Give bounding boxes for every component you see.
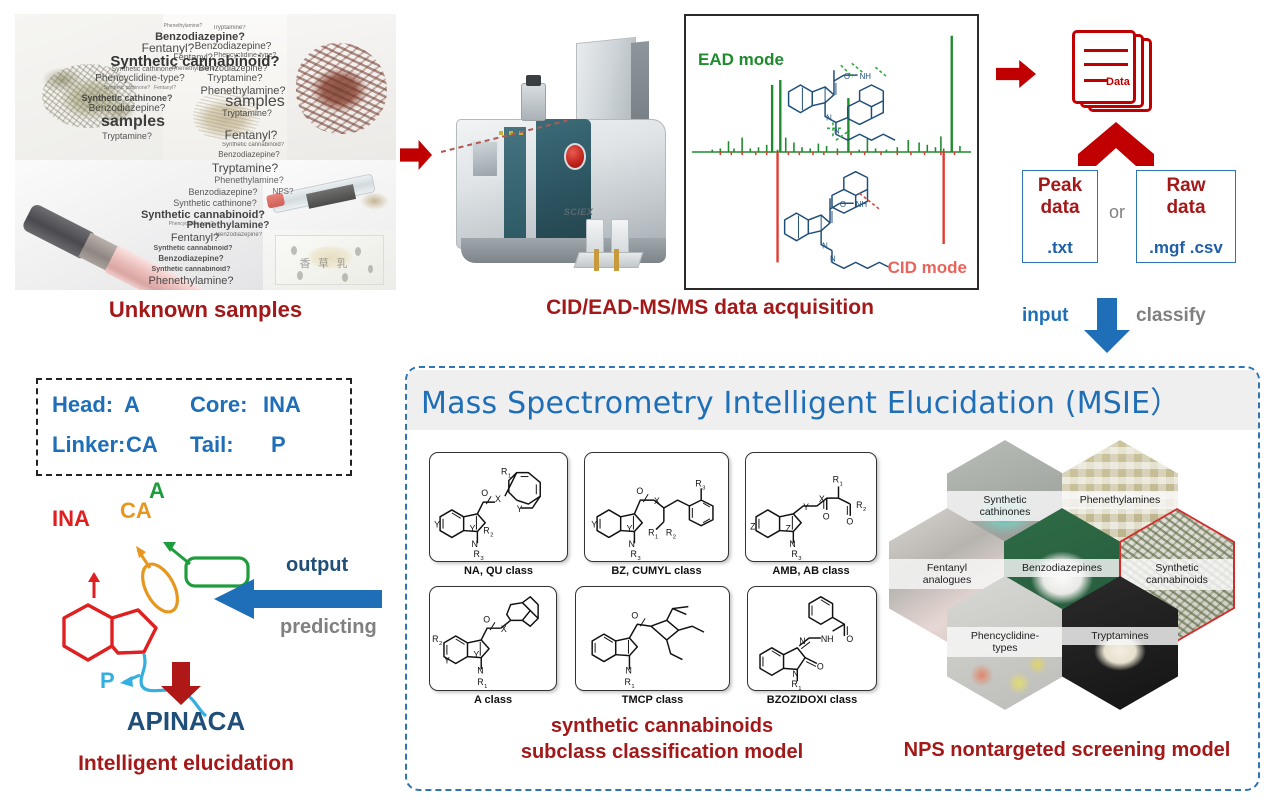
- dried-plant-photo: [287, 14, 396, 160]
- linker-value: CA: [126, 432, 158, 458]
- nps-hexagon-label: Tryptamines: [1062, 627, 1178, 645]
- bottle-tray: [573, 252, 643, 268]
- structure-card-a[interactable]: O X R 2 Y Y N R 1: [429, 586, 557, 691]
- nps-hexagon-label-line1: Phencyclidine-: [948, 630, 1062, 642]
- peak-data-box: Peak data .txt: [1022, 170, 1098, 263]
- structure-card-bzozidoxi[interactable]: O NH N O N R 1: [747, 586, 877, 691]
- ca-pointer-arrow: [136, 546, 150, 568]
- svg-text:N: N: [477, 665, 483, 675]
- svg-text:1: 1: [655, 534, 658, 540]
- svg-text:3: 3: [798, 556, 802, 561]
- unknown-samples-collage: 香 草 乳 Synthetic cannabinoid?Benzodiazepi…: [15, 14, 396, 290]
- instrument-teal-column: [504, 127, 527, 241]
- bzozidoxi-skeleton: O NH N O N R 1: [748, 587, 876, 690]
- nps-hexagon-label: Syntheticcannabinoids: [1121, 559, 1233, 589]
- classify-label: classify: [1136, 305, 1206, 327]
- tmcp-skeleton: O N R 1: [576, 587, 729, 690]
- a-pointer-arrow: [163, 542, 190, 564]
- linker-key: Linker:: [52, 432, 125, 458]
- nps-hexagon-label: Fentanylanalogues: [889, 559, 1005, 589]
- output-label: output: [286, 554, 348, 577]
- svg-text:O: O: [817, 661, 824, 671]
- amb-ab-skeleton: Y X O R 1 O R 2 Z Z N R 3: [746, 453, 876, 561]
- split-arrow-icon: [1074, 120, 1158, 168]
- ion-source-cap: [526, 75, 541, 86]
- svg-text:R: R: [833, 474, 839, 484]
- raw-data-title-line2: data: [1166, 197, 1205, 219]
- nps-hexagon-label-line1: Fentanyl: [890, 562, 1004, 574]
- structure-card-bz-cumyl[interactable]: O X R 3 Y Y R 1 R 2 N R 3: [584, 452, 729, 562]
- svg-text:N: N: [472, 539, 478, 549]
- svg-text:Y: Y: [627, 524, 633, 534]
- cid-structure-drawing: [785, 172, 892, 269]
- ead-structure-drawing: [789, 70, 896, 140]
- herbal-material-photo: [15, 14, 163, 160]
- svg-text:Z: Z: [750, 522, 756, 532]
- svg-text:R: R: [473, 549, 479, 559]
- label-p: P: [100, 668, 115, 694]
- arrow-samples-to-instrument: [400, 140, 432, 170]
- raw-data-box: Raw data .mgf .csv: [1136, 170, 1236, 263]
- svg-text:O: O: [481, 488, 488, 498]
- mass-spectrometer-illustration: SCIEX: [436, 18, 686, 290]
- cid-mode-label: CID mode: [888, 258, 967, 278]
- predicting-label: predicting: [280, 616, 377, 639]
- structure-atom-NH: NH: [856, 200, 868, 209]
- arrow-input-classify-down: [1082, 298, 1132, 354]
- svg-text:R: R: [625, 677, 631, 687]
- peak-data-title-line1: Peak: [1038, 175, 1082, 197]
- nps-hexagon-label-line1: Benzodiazepines: [1005, 562, 1119, 574]
- structure-atom-N: N: [822, 242, 828, 251]
- vape-pen-body: [15, 179, 249, 290]
- beige-powder-photo: [163, 14, 287, 160]
- tail-value: P: [271, 432, 286, 458]
- unknown-samples-caption: Unknown samples: [15, 297, 396, 323]
- cid-peak-series: [720, 152, 954, 262]
- svg-text:R: R: [856, 500, 862, 510]
- svg-text:Y: Y: [444, 656, 450, 666]
- emergency-stop-button[interactable]: [564, 143, 587, 170]
- structure-atom-N: N: [830, 254, 836, 263]
- svg-text:N: N: [629, 539, 635, 549]
- data-sheet-front: Data: [1072, 30, 1136, 104]
- svg-text:Y: Y: [434, 520, 440, 530]
- or-label: or: [1100, 202, 1134, 223]
- svg-text:2: 2: [439, 641, 442, 647]
- intelligent-elucidation-caption: Intelligent elucidation: [36, 752, 336, 776]
- nps-hexagon-label-line2: types: [948, 642, 1062, 654]
- core-value: INA: [263, 392, 301, 418]
- svg-text:O: O: [846, 517, 853, 527]
- svg-text:3: 3: [702, 485, 706, 491]
- ead-mode-label: EAD mode: [698, 50, 784, 70]
- data-file-stack-icon: Data: [1072, 30, 1158, 114]
- svg-text:O: O: [483, 614, 490, 624]
- sachet-wrapper: 香 草 乳: [275, 235, 384, 285]
- svg-text:O: O: [823, 512, 830, 522]
- nps-hexagon-label: Phenethylamines: [1062, 491, 1178, 509]
- a-class-skeleton: O X R 2 Y Y N R 1: [430, 587, 556, 690]
- hazard-label-icon: [499, 131, 503, 135]
- svg-text:X: X: [654, 496, 660, 506]
- doc-data-label: Data: [1106, 76, 1130, 88]
- nps-hexagon-label-line2: cathinones: [948, 506, 1062, 518]
- svg-text:R: R: [648, 527, 654, 537]
- peak-data-title-line2: data: [1040, 197, 1079, 219]
- structure-atom-O: O: [840, 200, 846, 209]
- core-ring-red: [64, 605, 156, 660]
- subclass-caption-line1: synthetic cannabinoids: [447, 713, 877, 740]
- svg-text:1: 1: [631, 684, 634, 690]
- svg-text:1: 1: [798, 686, 801, 690]
- svg-text:1: 1: [484, 684, 487, 690]
- solvent-line: [594, 249, 600, 271]
- svg-text:N: N: [626, 665, 632, 675]
- structure-card-na-qu[interactable]: O X R 1 Y Y Y R 2 N R 3: [429, 452, 568, 562]
- svg-text:X: X: [495, 494, 501, 504]
- sachet-speck: [342, 273, 348, 282]
- svg-text:R: R: [666, 527, 672, 537]
- structure-card-tmcp[interactable]: O N R 1: [575, 586, 730, 691]
- svg-text:X: X: [819, 494, 825, 504]
- msie-title: Mass Spectrometry Intelligent Elucidatio…: [421, 378, 1180, 422]
- svg-text:Z: Z: [785, 524, 791, 534]
- compound-name: APINACA: [96, 706, 276, 737]
- svg-text:3: 3: [480, 556, 484, 561]
- structure-label-na-qu: NA, QU class: [429, 565, 568, 577]
- msie-title-band: Mass Spectrometry Intelligent Elucidatio…: [407, 370, 1258, 430]
- sachet-speck: [297, 271, 303, 280]
- nps-hexagon-label-line1: Phenethylamines: [1063, 494, 1177, 506]
- nps-hexagon-cluster: SyntheticcathinonesPhenethylaminesFentan…: [899, 440, 1259, 710]
- ion-source-module: [521, 83, 546, 121]
- label-ina: INA: [52, 506, 90, 532]
- nps-hexagon-label: Benzodiazepines: [1004, 559, 1120, 577]
- svg-text:Y: Y: [803, 502, 809, 512]
- ina-pointer-arrow: [88, 572, 100, 598]
- svg-text:N: N: [789, 539, 795, 549]
- input-label: input: [1022, 305, 1068, 327]
- nps-hexagon-label-line2: analogues: [890, 574, 1004, 586]
- doc-line: [1084, 49, 1128, 52]
- graphical-abstract: 香 草 乳 Synthetic cannabinoid?Benzodiazepi…: [0, 0, 1268, 806]
- instrument-teal-panel: [536, 119, 591, 244]
- svg-text:NH: NH: [821, 634, 834, 644]
- output-arrow-left: [214, 578, 382, 620]
- doc-line: [1084, 63, 1128, 66]
- svg-text:R: R: [630, 549, 636, 559]
- arrow-spectrum-to-data: [996, 60, 1036, 88]
- svg-text:1: 1: [839, 481, 842, 487]
- core-key: Core:: [190, 392, 247, 418]
- sachet-speck: [368, 265, 373, 273]
- svg-text:O: O: [636, 486, 643, 496]
- label-ca: CA: [120, 498, 152, 524]
- svg-text:R: R: [483, 526, 489, 536]
- ms-acquisition-caption: CID/EAD-MS/MS data acquisition: [450, 296, 970, 320]
- svg-text:R: R: [791, 549, 797, 559]
- vape-pen-photo: [15, 160, 263, 290]
- p-pointer-arrow: [120, 675, 140, 687]
- nps-hexagon-label: Phencyclidine-types: [947, 627, 1063, 657]
- powder-spill: [360, 192, 389, 210]
- structure-label-tmcp: TMCP class: [575, 694, 730, 706]
- subclass-caption-line2: subclass classification model: [447, 739, 877, 766]
- nps-hexagon-label: Syntheticcathinones: [947, 491, 1063, 521]
- vape-cartridge: [104, 245, 223, 290]
- svg-text:Y: Y: [470, 524, 476, 534]
- structure-label-bzozidoxi: BZOZIDOXI class: [747, 694, 877, 706]
- head-value: A: [124, 392, 140, 418]
- svg-text:N: N: [792, 669, 798, 679]
- svg-text:X: X: [501, 624, 507, 634]
- mirror-spectrum-panel: O NH N N: [684, 14, 979, 290]
- arrow-to-compound-name: [160, 662, 202, 706]
- svg-text:N: N: [799, 636, 805, 646]
- na-qu-skeleton: O X R 1 Y Y Y R 2 N R 3: [430, 453, 567, 561]
- glass-tube-photo: [263, 160, 396, 230]
- svg-text:R: R: [432, 634, 438, 644]
- sachet-printed-text: 香 草 乳: [300, 255, 364, 274]
- msie-panel: Mass Spectrometry Intelligent Elucidatio…: [405, 366, 1260, 791]
- raw-data-extension: .mgf .csv: [1149, 238, 1223, 258]
- nps-hexagon-label-line1: Synthetic: [948, 494, 1062, 506]
- elucidation-result-box: Head: A Core: INA Linker: CA Tail: P: [36, 378, 352, 476]
- tail-key: Tail:: [190, 432, 234, 458]
- raw-data-title-line1: Raw: [1166, 175, 1205, 197]
- nps-hexagon-label-line1: Synthetic: [1122, 562, 1232, 574]
- svg-text:R: R: [501, 467, 507, 477]
- svg-text:3: 3: [637, 556, 641, 561]
- bz-cumyl-skeleton: O X R 3 Y Y R 1 R 2 N R 3: [585, 453, 728, 561]
- structure-label-bz-cumyl: BZ, CUMYL class: [584, 565, 729, 577]
- svg-text:2: 2: [490, 532, 493, 538]
- svg-text:R: R: [695, 478, 701, 488]
- solvent-line: [614, 249, 620, 271]
- structure-label-a-class: A class: [429, 694, 557, 706]
- screening-caption: NPS nontargeted screening model: [877, 739, 1257, 762]
- svg-text:1: 1: [508, 474, 511, 480]
- head-key: Head:: [52, 392, 113, 418]
- svg-text:O: O: [631, 610, 638, 620]
- label-a: A: [149, 478, 165, 504]
- instrument-brand-label: SCIEX: [551, 203, 606, 222]
- nps-hexagon-label-line1: Tryptamines: [1063, 630, 1177, 642]
- structure-label-amb-ab: AMB, AB class: [745, 565, 877, 577]
- svg-text:Y: Y: [591, 520, 597, 530]
- svg-text:Y: Y: [473, 650, 479, 660]
- svg-text:2: 2: [673, 534, 676, 540]
- structure-atom-N: N: [826, 113, 832, 122]
- linker-ellipse-orange: [135, 558, 184, 617]
- svg-text:R: R: [791, 679, 797, 689]
- nps-hexagon-label-line2: cannabinoids: [1122, 574, 1232, 586]
- sachet-speck: [291, 246, 297, 255]
- svg-text:O: O: [846, 634, 853, 644]
- doc-line: [1084, 79, 1108, 82]
- instrument-window: [471, 140, 499, 178]
- svg-text:R: R: [477, 677, 483, 687]
- svg-text:Y: Y: [517, 504, 523, 514]
- structure-atom-NH: NH: [860, 72, 872, 81]
- peak-data-extension: .txt: [1047, 238, 1073, 258]
- packaged-sachet-photo: 香 草 乳: [263, 230, 396, 290]
- structure-card-amb-ab[interactable]: Y X O R 1 O R 2 Z Z N R 3: [745, 452, 877, 562]
- svg-text:2: 2: [863, 507, 866, 513]
